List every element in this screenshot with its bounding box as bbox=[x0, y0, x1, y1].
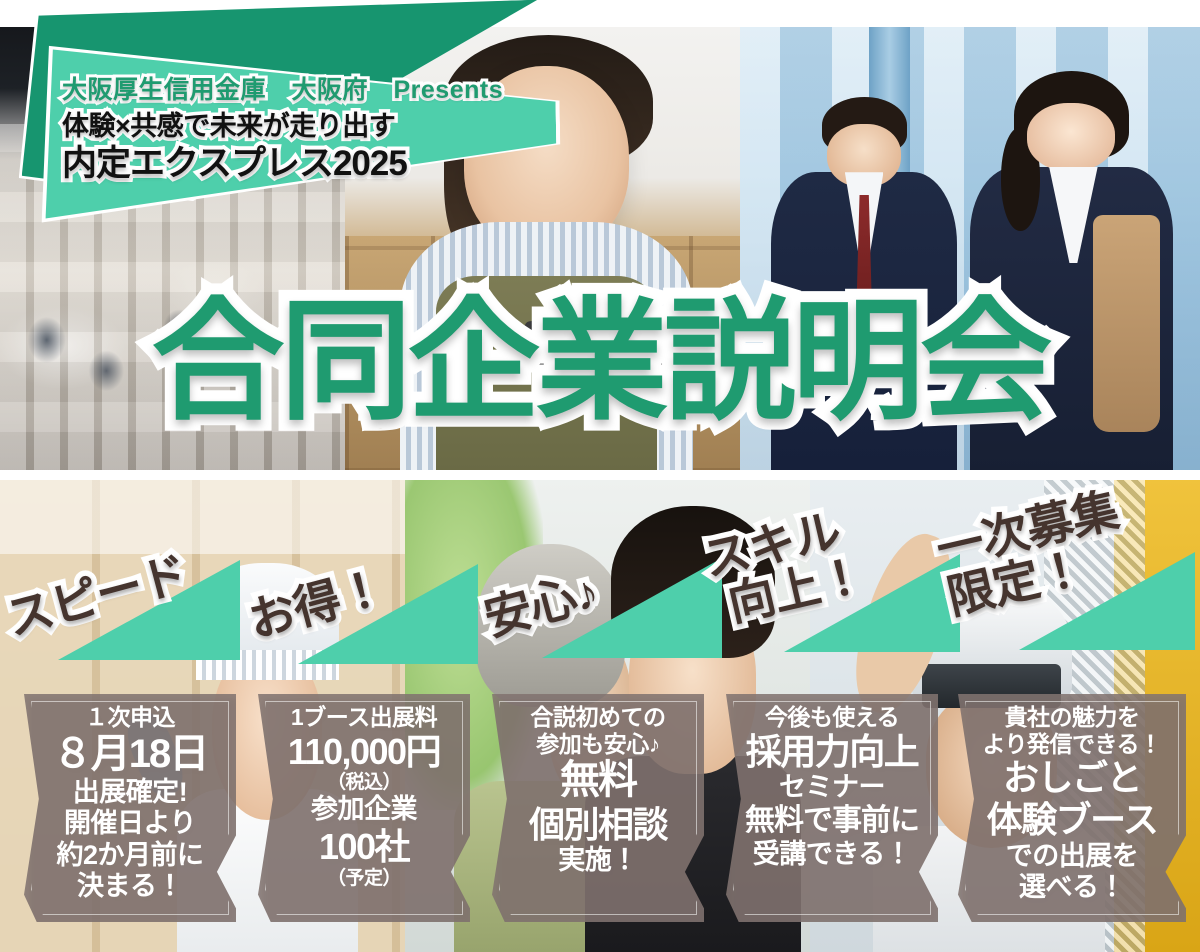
feature-line: 実施！ bbox=[498, 845, 698, 876]
ribbon-value: お得！ bbox=[236, 560, 476, 700]
feature-line: 参加も安心♪ bbox=[498, 731, 698, 758]
feature-line: 体験ブース bbox=[964, 799, 1180, 841]
feature-line: 受講できる！ bbox=[732, 839, 932, 870]
feature-box-reassurance: 合説初めての参加も安心♪無料個別相談実施！ bbox=[492, 694, 704, 922]
ribbon-reassurance: 安心♪ bbox=[470, 550, 720, 700]
feature-line: 100社 bbox=[264, 826, 464, 868]
feature-line: 個別相談 bbox=[498, 804, 698, 846]
feature-line: セミナー bbox=[732, 772, 932, 803]
ribbon-speed: スピード bbox=[0, 560, 240, 700]
feature-box-value: 1ブース出展料110,000円（税込）参加企業100社（予定） bbox=[258, 694, 470, 922]
feature-line: （税込） bbox=[264, 772, 464, 794]
feature-line: （予定） bbox=[264, 868, 464, 890]
feature-line: 無料 bbox=[498, 757, 698, 803]
feature-line: 参加企業 bbox=[264, 794, 464, 825]
feature-line: ８月18日 bbox=[30, 731, 230, 777]
feature-line: 開催日より bbox=[30, 808, 230, 839]
feature-box-speed: １次申込８月18日出展確定!開催日より約2か月前に決まる！ bbox=[24, 694, 236, 922]
feature-line: 1ブース出展料 bbox=[264, 704, 464, 731]
ribbon-skill-up: スキル 向上！ bbox=[700, 520, 960, 700]
page-title: 合同企業説明会 bbox=[0, 296, 1200, 428]
event-subtitle: 体験×共感で未来が走り出す bbox=[62, 110, 702, 142]
feature-box-skill-up: 今後も使える採用力向上セミナー無料で事前に受講できる！ bbox=[726, 694, 938, 922]
feature-line: 無料で事前に bbox=[732, 804, 932, 839]
header-text-block: 大阪厚生信用金庫 大阪府 Presents 体験×共感で未来が走り出す 内定エク… bbox=[62, 76, 702, 184]
program-name: 内定エクスプレス2025 bbox=[62, 143, 702, 184]
feature-line: 決まる！ bbox=[30, 871, 230, 902]
feature-line: 合説初めての bbox=[498, 704, 698, 731]
feature-line: 110,000円 bbox=[264, 731, 464, 773]
ribbon-label: スキル 向上！ bbox=[699, 503, 869, 632]
feature-line: 出展確定! bbox=[30, 777, 230, 808]
feature-line: おしごと bbox=[964, 757, 1180, 799]
ribbon-label: 安心♪ bbox=[480, 567, 603, 644]
feature-line: 採用力向上 bbox=[732, 731, 932, 773]
feature-line: での出展を bbox=[964, 841, 1180, 872]
feature-line: １次申込 bbox=[30, 704, 230, 731]
ribbon-first-round-only: 一次募集 限定！ bbox=[935, 516, 1200, 700]
feature-line: 選べる！ bbox=[964, 872, 1180, 903]
event-poster: 大阪厚生信用金庫 大阪府 Presents 体験×共感で未来が走り出す 内定エク… bbox=[0, 0, 1200, 952]
feature-box-first-round-only: 貴社の魅力をより発信できる！おしごと体験ブースでの出展を選べる！ bbox=[958, 694, 1186, 922]
feature-line: より発信できる！ bbox=[964, 731, 1180, 758]
feature-boxes-row: １次申込８月18日出展確定!開催日より約2か月前に決まる！ 1ブース出展料110… bbox=[0, 694, 1200, 934]
feature-line: 約2か月前に bbox=[30, 840, 230, 871]
feature-line: 今後も使える bbox=[732, 704, 932, 731]
feature-line: 貴社の魅力を bbox=[964, 704, 1180, 731]
band-separator bbox=[0, 470, 1200, 480]
presents-line: 大阪厚生信用金庫 大阪府 Presents bbox=[62, 76, 702, 106]
